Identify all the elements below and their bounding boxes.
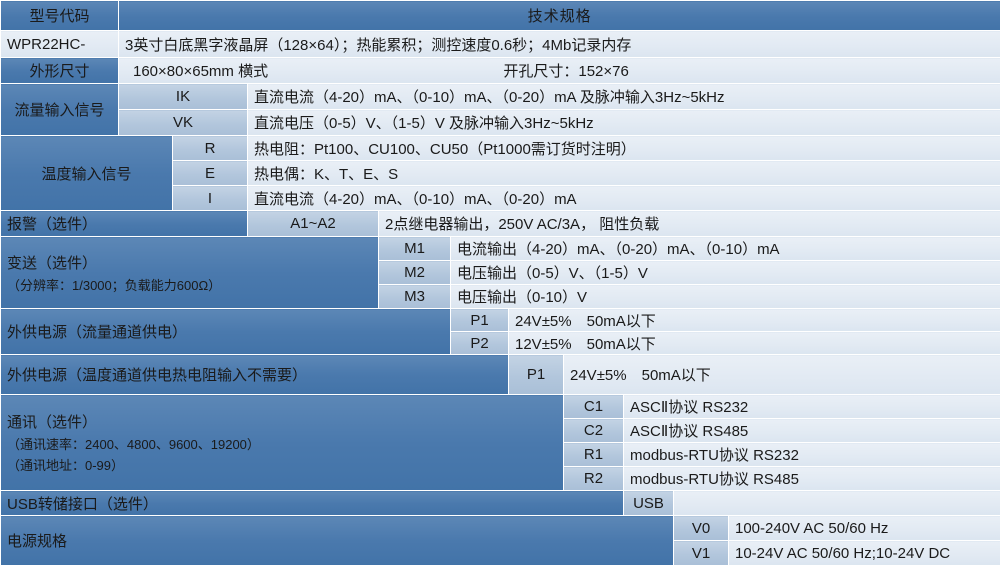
ext-power-temp-desc: 24V±5% 50mA以下 bbox=[564, 355, 1000, 395]
temp-input-desc-e: 热电偶：K、T、E、S bbox=[248, 161, 1000, 186]
model-description: 3英寸白底黑字液晶屏（128×64）；热能累积；测控速度0.6秒；4Mb记录内存 bbox=[119, 31, 1000, 58]
power-spec-desc-v0: 100-240V AC 50/60 Hz bbox=[729, 516, 1000, 541]
communication-code-r1: R1 bbox=[564, 443, 624, 467]
communication-code-c1: C1 bbox=[564, 395, 624, 419]
communication-desc-c1: ASCⅡ协议 RS232 bbox=[624, 395, 1000, 419]
ext-power-flow-label: 外供电源（流量通道供电） bbox=[1, 309, 451, 355]
transmit-label: 变送（选件） （分辨率：1/3000；负载能力600Ω） bbox=[1, 237, 379, 309]
communication-code-r2: R2 bbox=[564, 467, 624, 491]
ext-power-flow-code-p1: P1 bbox=[451, 309, 509, 332]
row-usb: USB转储接口（选件） USB bbox=[1, 491, 1000, 516]
power-spec-code-v1: V1 bbox=[674, 541, 729, 566]
row-flow-input-vk: VK 直流电压（0-5）V、（1-5）V 及脉冲输入3Hz~5kHz bbox=[1, 110, 1000, 136]
usb-desc bbox=[674, 491, 1000, 516]
dimensions-cutout: 开孔尺寸：152×76 bbox=[268, 60, 994, 81]
flow-input-desc-ik: 直流电流（4-20）mA、（0-10）mA、（0-20）mA 及脉冲输入3Hz~… bbox=[248, 84, 1000, 110]
dimensions-values: 160×80×65mm 横式 开孔尺寸：152×76 bbox=[119, 58, 1000, 84]
row-transmit-m1: 变送（选件） （分辨率：1/3000；负载能力600Ω） M1 电流输出（4-2… bbox=[1, 237, 1000, 261]
flow-input-label: 流量输入信号 bbox=[1, 84, 119, 136]
alarm-desc: 2点继电器输出，250V AC/3A， 阻性负载 bbox=[379, 211, 1000, 237]
usb-label: USB转储接口（选件） bbox=[1, 491, 624, 516]
header-spec-title: 技术规格 bbox=[119, 1, 1000, 31]
communication-label: 通讯（选件） （通讯速率：2400、4800、9600、19200） （通讯地址… bbox=[1, 395, 564, 491]
transmit-code-m3: M3 bbox=[379, 285, 451, 309]
ext-power-temp-code: P1 bbox=[509, 355, 564, 395]
spec-sheet: 型号代码 技术规格 WPR22HC- 3英寸白底黑字液晶屏（128×64）；热能… bbox=[0, 0, 1000, 577]
specification-table: 型号代码 技术规格 WPR22HC- 3英寸白底黑字液晶屏（128×64）；热能… bbox=[0, 0, 1000, 566]
ext-power-flow-code-p2: P2 bbox=[451, 332, 509, 355]
row-flow-input-ik: 流量输入信号 IK 直流电流（4-20）mA、（0-10）mA、（0-20）mA… bbox=[1, 84, 1000, 110]
power-spec-label: 电源规格 bbox=[1, 516, 674, 566]
model-code-value: WPR22HC- bbox=[1, 31, 119, 58]
temp-input-code-i: I bbox=[173, 186, 248, 211]
row-ext-power-temp: 外供电源（温度通道供电热电阻输入不需要） P1 24V±5% 50mA以下 bbox=[1, 355, 1000, 395]
temp-input-desc-r: 热电阻：Pt100、CU100、CU50（Pt1000需订货时注明） bbox=[248, 136, 1000, 161]
communication-label-main: 通讯（选件） bbox=[7, 411, 557, 432]
ext-power-flow-desc-p2: 12V±5% 50mA以下 bbox=[509, 332, 1000, 355]
alarm-code: A1~A2 bbox=[248, 211, 379, 237]
dimensions-label: 外形尺寸 bbox=[1, 58, 119, 84]
usb-code: USB bbox=[624, 491, 674, 516]
temp-input-code-r: R bbox=[173, 136, 248, 161]
ext-power-temp-label: 外供电源（温度通道供电热电阻输入不需要） bbox=[1, 355, 509, 395]
transmit-desc-m1: 电流输出（4-20）mA、（0-20）mA、（0-10）mA bbox=[451, 237, 1000, 261]
communication-desc-r1: modbus-RTU协议 RS232 bbox=[624, 443, 1000, 467]
row-power-spec-v0: 电源规格 V0 100-240V AC 50/60 Hz bbox=[1, 516, 1000, 541]
row-dimensions: 外形尺寸 160×80×65mm 横式 开孔尺寸：152×76 bbox=[1, 58, 1000, 84]
transmit-code-m1: M1 bbox=[379, 237, 451, 261]
flow-input-code-ik: IK bbox=[119, 84, 248, 110]
row-communication-c1: 通讯（选件） （通讯速率：2400、4800、9600、19200） （通讯地址… bbox=[1, 395, 1000, 419]
communication-code-c2: C2 bbox=[564, 419, 624, 443]
power-spec-code-v0: V0 bbox=[674, 516, 729, 541]
row-ext-power-flow-p1: 外供电源（流量通道供电） P1 24V±5% 50mA以下 bbox=[1, 309, 1000, 332]
table-header-row: 型号代码 技术规格 bbox=[1, 1, 1000, 31]
transmit-desc-m2: 电压输出（0-5）V、（1-5）V bbox=[451, 261, 1000, 285]
temp-input-desc-i: 直流电流（4-20）mA、（0-10）mA、（0-20）mA bbox=[248, 186, 1000, 211]
dimensions-value: 160×80×65mm 横式 bbox=[125, 60, 268, 81]
communication-label-sub1: （通讯速率：2400、4800、9600、19200） bbox=[7, 434, 557, 453]
transmit-desc-m3: 电压输出（0-10）V bbox=[451, 285, 1000, 309]
communication-desc-c2: ASCⅡ协议 RS485 bbox=[624, 419, 1000, 443]
row-alarm: 报警（选件） A1~A2 2点继电器输出，250V AC/3A， 阻性负载 bbox=[1, 211, 1000, 237]
row-model: WPR22HC- 3英寸白底黑字液晶屏（128×64）；热能累积；测控速度0.6… bbox=[1, 31, 1000, 58]
row-temp-input-r: 温度输入信号 R 热电阻：Pt100、CU100、CU50（Pt1000需订货时… bbox=[1, 136, 1000, 161]
transmit-code-m2: M2 bbox=[379, 261, 451, 285]
communication-label-sub2: （通讯地址：0-99） bbox=[7, 455, 557, 474]
flow-input-desc-vk: 直流电压（0-5）V、（1-5）V 及脉冲输入3Hz~5kHz bbox=[248, 110, 1000, 136]
ext-power-flow-desc-p1: 24V±5% 50mA以下 bbox=[509, 309, 1000, 332]
temp-input-label: 温度输入信号 bbox=[1, 136, 173, 211]
transmit-label-sub: （分辨率：1/3000；负载能力600Ω） bbox=[7, 275, 372, 294]
header-model-code-label: 型号代码 bbox=[1, 1, 119, 31]
flow-input-code-vk: VK bbox=[119, 110, 248, 136]
temp-input-code-e: E bbox=[173, 161, 248, 186]
alarm-label: 报警（选件） bbox=[1, 211, 248, 237]
power-spec-desc-v1: 10-24V AC 50/60 Hz;10-24V DC bbox=[729, 541, 1000, 566]
communication-desc-r2: modbus-RTU协议 RS485 bbox=[624, 467, 1000, 491]
transmit-label-main: 变送（选件） bbox=[7, 252, 372, 273]
